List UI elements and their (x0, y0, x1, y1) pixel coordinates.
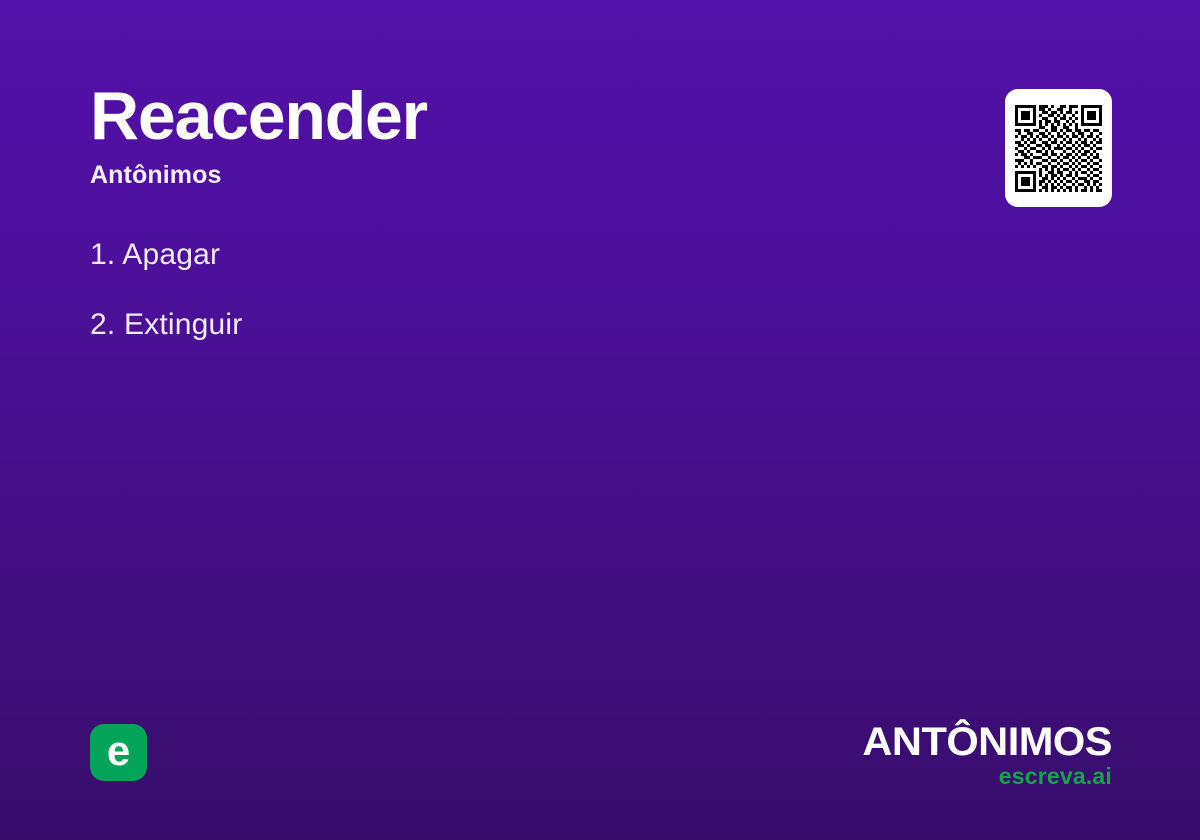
list-item: 2. Extinguir (90, 308, 910, 342)
brand-logo-letter: e (107, 730, 130, 772)
footer-brand-title: ANTÔNIMOS (862, 722, 1112, 762)
page-title: Reacender (90, 82, 910, 151)
brand-logo-icon[interactable]: e (90, 724, 147, 781)
footer-brand-subtitle: escreva.ai (872, 765, 1112, 788)
list-item-index: 1. (90, 238, 115, 271)
qr-code-icon[interactable] (1015, 105, 1102, 192)
header-block: Reacender Antônimos (90, 82, 910, 190)
antonym-list: 1. Apagar2. Extinguir (90, 238, 910, 378)
qr-code-panel[interactable] (1005, 89, 1112, 207)
category-subtitle: Antônimos (90, 161, 910, 190)
list-item: 1. Apagar (90, 238, 910, 272)
footer-brand: ANTÔNIMOS escreva.ai (872, 722, 1112, 788)
antonym-card: Reacender Antônimos 1. Apagar2. Extingui… (0, 0, 1200, 840)
list-item-label: Apagar (115, 238, 220, 271)
list-item-index: 2. (90, 308, 115, 341)
list-item-label: Extinguir (115, 308, 242, 341)
